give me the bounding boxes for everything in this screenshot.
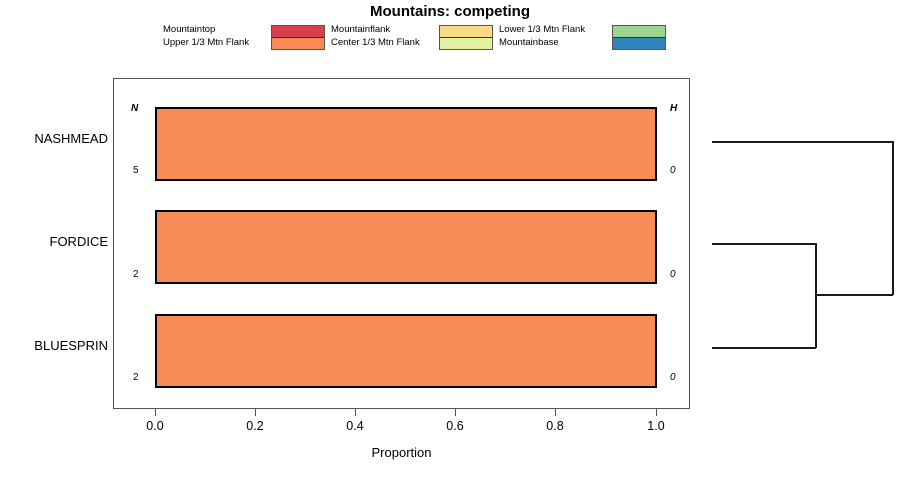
xtick-label-0: 0.0 <box>135 419 175 433</box>
annotation-header-h: H <box>670 103 677 114</box>
xtick-mark-5 <box>656 409 657 416</box>
category-label-bluesprin: BLUESPRIN <box>0 338 108 353</box>
xtick-mark-1 <box>255 409 256 416</box>
category-axis-labels: NASHMEAD FORDICE BLUESPRIN <box>0 0 108 480</box>
chart-canvas: Mountains: competing Mountaintop Upper 1… <box>0 0 900 480</box>
legend-column-1: Mountaintop Upper 1/3 Mtn Flank <box>163 24 293 52</box>
legend-swatch-lower-third-mtn-flank <box>613 26 665 38</box>
legend-swatch-mountainflank <box>440 26 492 38</box>
dendrogram-branch-nashmead <box>712 141 893 143</box>
dendrogram <box>700 0 900 480</box>
annotation-h-bluesprin: 0 <box>670 372 676 383</box>
legend-column-3-labels: Lower 1/3 Mtn Flank Mountainbase <box>499 24 585 49</box>
legend-label-mountainflank: Mountainflank <box>331 24 420 37</box>
legend-label-center-third-mtn-flank: Center 1/3 Mtn Flank <box>331 37 420 50</box>
xtick-label-1: 0.2 <box>235 419 275 433</box>
xtick-label-4: 0.8 <box>535 419 575 433</box>
dendrogram-branch-fordice <box>712 243 816 245</box>
annotation-n-bluesprin: 2 <box>133 372 139 383</box>
legend-column-3: Lower 1/3 Mtn Flank Mountainbase <box>499 24 634 52</box>
legend-label-mountaintop: Mountaintop <box>163 24 249 37</box>
dendrogram-merge-root <box>892 141 894 295</box>
legend-swatch-mountainbase <box>613 38 665 50</box>
annotation-header-n: N <box>131 103 138 114</box>
dendrogram-branch-cluster <box>815 294 893 296</box>
legend-label-upper-third-mtn-flank: Upper 1/3 Mtn Flank <box>163 37 249 50</box>
annotation-h-fordice: 0 <box>670 269 676 280</box>
xtick-mark-0 <box>155 409 156 416</box>
x-axis-title: Proportion <box>113 445 690 460</box>
xtick-mark-4 <box>555 409 556 416</box>
legend-swatch-center-third-mtn-flank <box>440 38 492 50</box>
category-label-fordice: FORDICE <box>0 234 108 249</box>
category-label-nashmead: NASHMEAD <box>0 131 108 146</box>
legend-column-1-labels: Mountaintop Upper 1/3 Mtn Flank <box>163 24 249 49</box>
legend-column-2-swatches <box>439 25 493 50</box>
xtick-label-5: 1.0 <box>636 419 676 433</box>
legend-column-2: Mountainflank Center 1/3 Mtn Flank <box>331 24 461 52</box>
legend-column-2-labels: Mountainflank Center 1/3 Mtn Flank <box>331 24 420 49</box>
legend-column-1-swatches <box>271 25 325 50</box>
legend-column-3-swatches <box>612 25 666 50</box>
annotation-h-nashmead: 0 <box>670 165 676 176</box>
xtick-mark-2 <box>355 409 356 416</box>
bar-nashmead <box>155 107 657 181</box>
legend: Mountaintop Upper 1/3 Mtn Flank Mountain… <box>163 24 663 52</box>
legend-label-lower-third-mtn-flank: Lower 1/3 Mtn Flank <box>499 24 585 37</box>
legend-swatch-mountaintop <box>272 26 324 38</box>
bar-bluesprin <box>155 314 657 388</box>
xtick-label-3: 0.6 <box>435 419 475 433</box>
legend-swatch-upper-third-mtn-flank <box>272 38 324 50</box>
xtick-mark-3 <box>455 409 456 416</box>
legend-label-mountainbase: Mountainbase <box>499 37 585 50</box>
annotation-n-fordice: 2 <box>133 269 139 280</box>
annotation-n-nashmead: 5 <box>133 165 139 176</box>
xtick-label-2: 0.4 <box>335 419 375 433</box>
dendrogram-branch-bluesprin <box>712 347 816 349</box>
plot-panel: N 5 2 2 H 0 0 0 <box>113 78 690 409</box>
dendrogram-merge-fordice-bluesprin <box>815 243 817 348</box>
bar-fordice <box>155 210 657 284</box>
